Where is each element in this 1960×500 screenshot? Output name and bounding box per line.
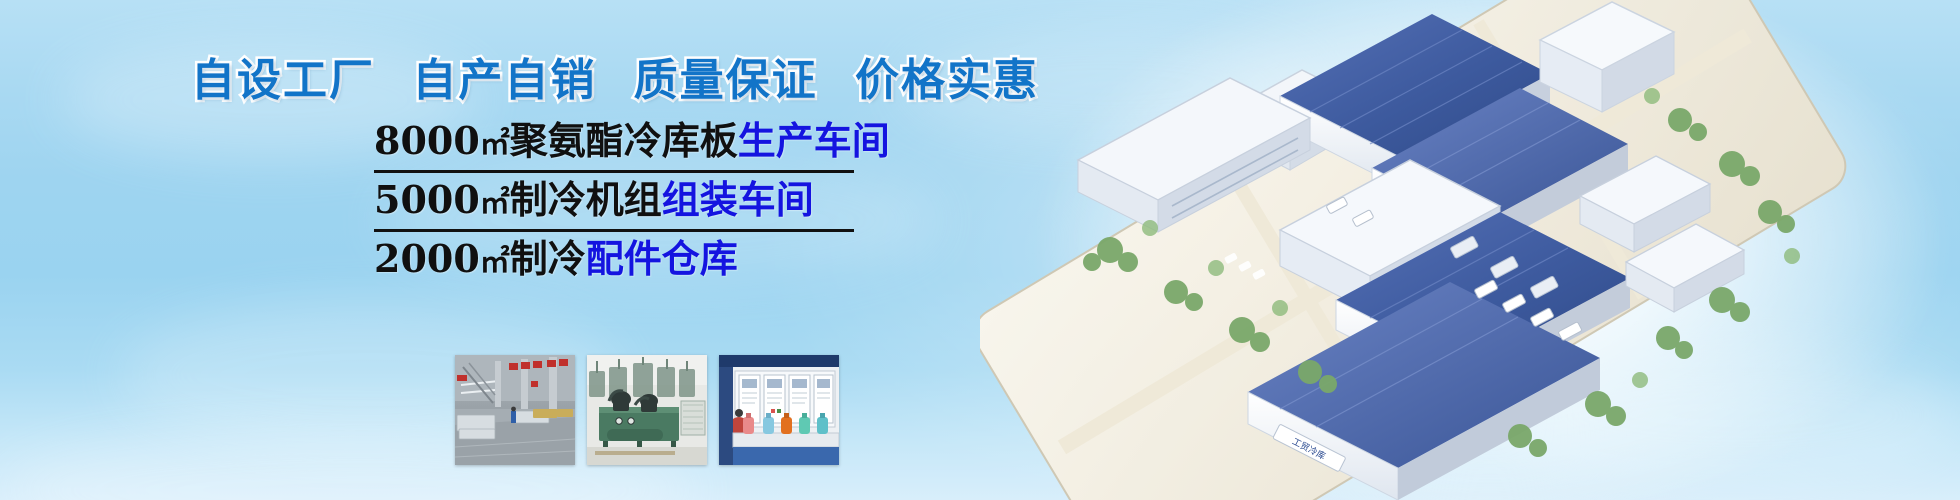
spec-subject-2: 制冷机组 xyxy=(510,177,662,222)
photo-strip xyxy=(455,355,839,465)
headline-segment-3: 质量保证 xyxy=(634,55,818,106)
spec-subject-3: 制冷 xyxy=(510,236,586,281)
headline-segment-2: 自产自销 xyxy=(412,55,596,106)
spec-line-3: 2000㎡制冷配件仓库 xyxy=(374,236,854,288)
spec-area-2: 5000 xyxy=(374,177,480,222)
spec-area-1: 8000 xyxy=(374,118,480,163)
showroom-display-photo xyxy=(719,355,839,465)
headline: 自设工厂 自产自销 质量保证 价格实惠 xyxy=(0,44,1230,108)
spec-line-2: 5000㎡制冷机组组装车间 xyxy=(374,177,854,232)
headline-segment-4: 价格实惠 xyxy=(855,55,1039,106)
spec-subject-1: 聚氨酯冷库板 xyxy=(510,118,738,163)
spec-unit-1: ㎡ xyxy=(480,127,510,162)
spec-line-1: 8000㎡聚氨酯冷库板生产车间 xyxy=(374,118,854,173)
spec-highlight-1: 生产车间 xyxy=(738,118,890,163)
refrigeration-units-photo xyxy=(587,355,707,465)
promo-banner: 工贸冷库 xyxy=(0,0,1960,500)
spec-unit-2: ㎡ xyxy=(480,186,510,221)
workshop-interior-photo xyxy=(455,355,575,465)
spec-unit-3: ㎡ xyxy=(480,245,510,280)
spec-highlight-2: 组装车间 xyxy=(662,177,814,222)
spec-highlight-3: 配件仓库 xyxy=(586,236,738,281)
headline-segment-1: 自设工厂 xyxy=(191,55,375,106)
spec-area-3: 2000 xyxy=(374,236,480,281)
spec-line-list: 8000㎡聚氨酯冷库板生产车间 5000㎡制冷机组组装车间 2000㎡制冷配件仓… xyxy=(374,118,854,288)
